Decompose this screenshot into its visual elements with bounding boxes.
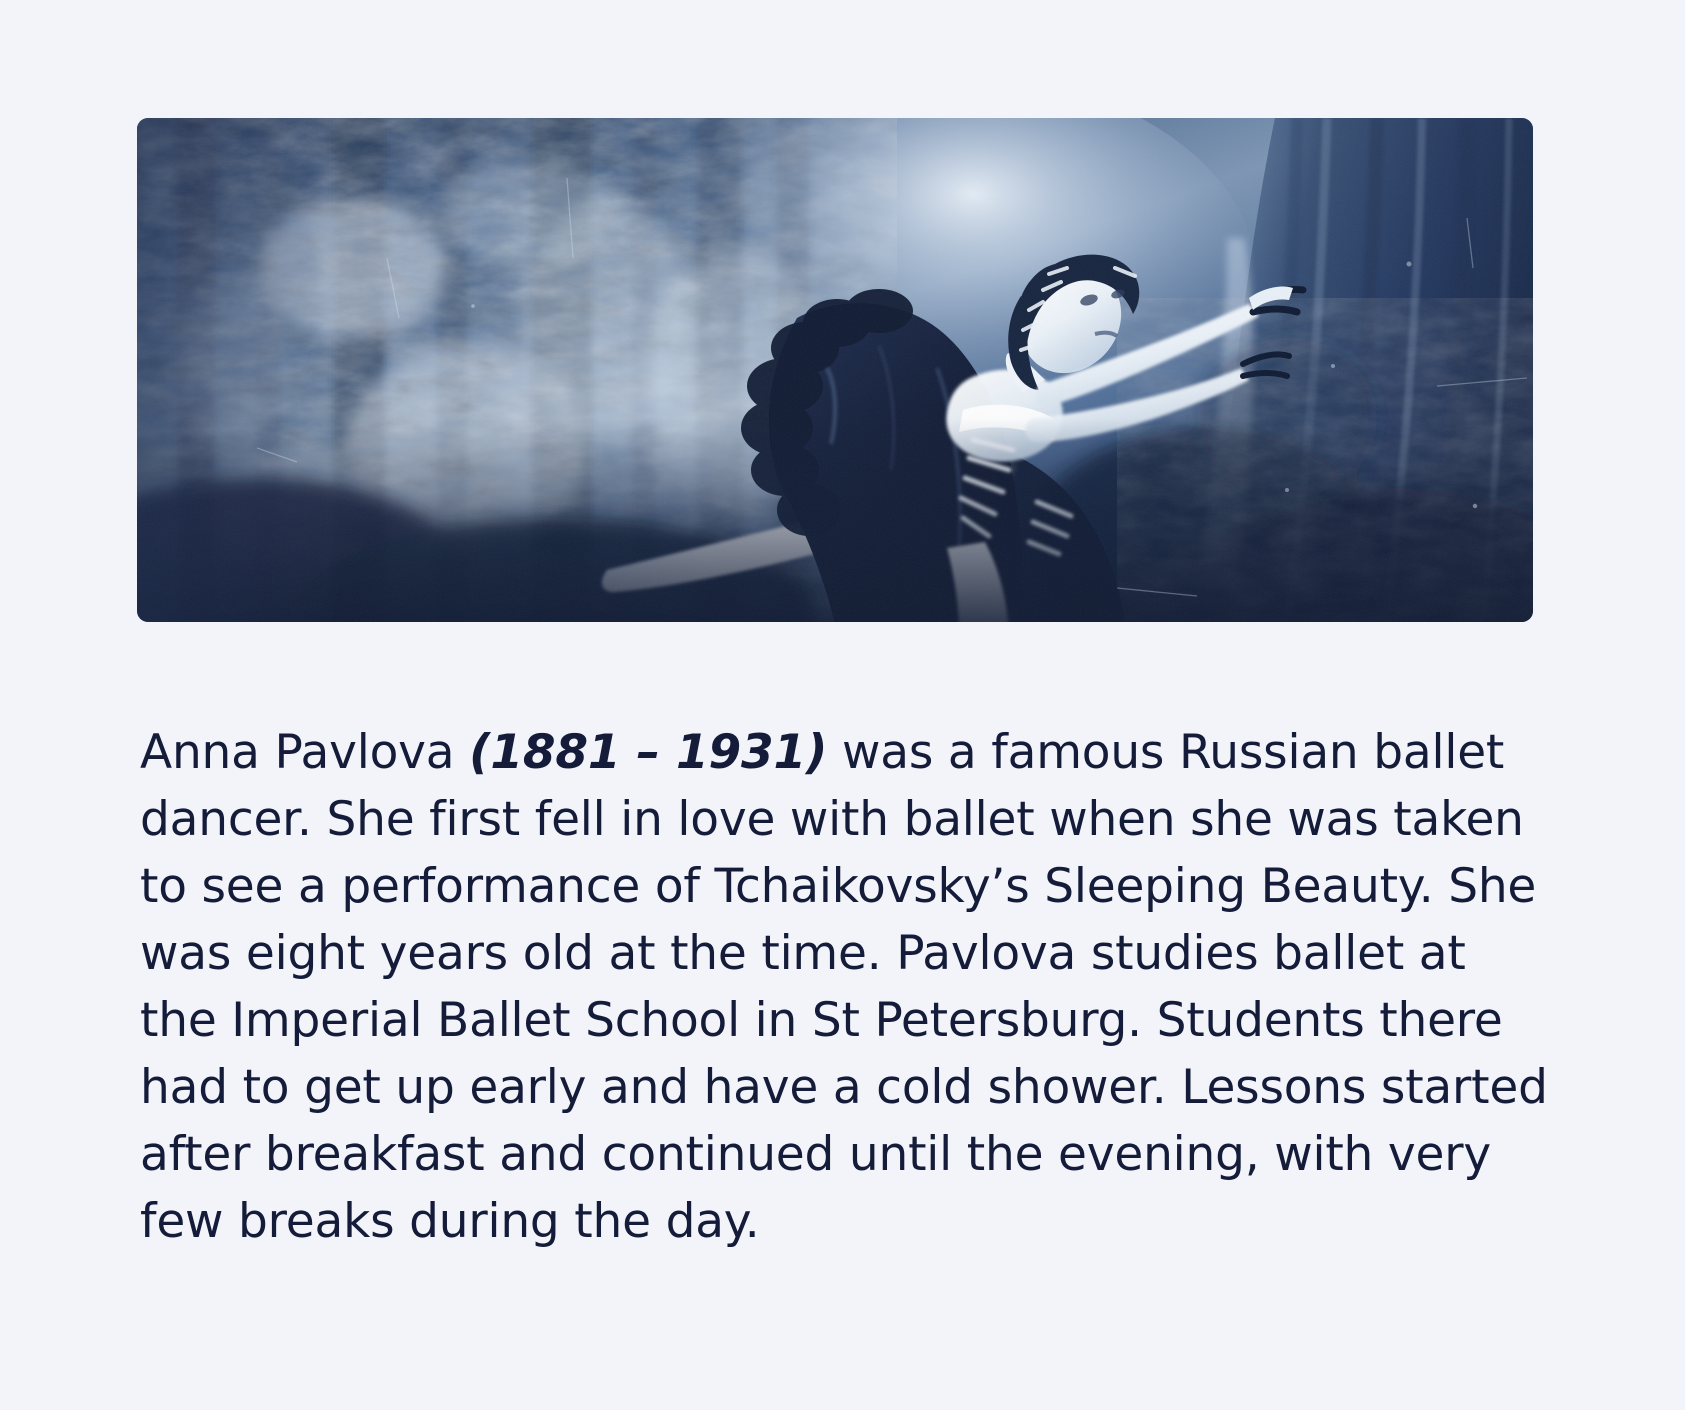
anna-pavlova-photo <box>137 118 1533 622</box>
life-dates: (1881 – 1931) <box>469 725 827 780</box>
article-page: Anna Pavlova (1881 – 1931) was a famous … <box>0 0 1685 1410</box>
caption-part-two: was a famous Russian ballet dancer. She … <box>140 725 1548 1249</box>
biography-paragraph: Anna Pavlova (1881 – 1931) was a famous … <box>140 719 1550 1255</box>
caption-part-one: Anna Pavlova <box>140 725 469 780</box>
photo-illustration <box>137 118 1533 622</box>
